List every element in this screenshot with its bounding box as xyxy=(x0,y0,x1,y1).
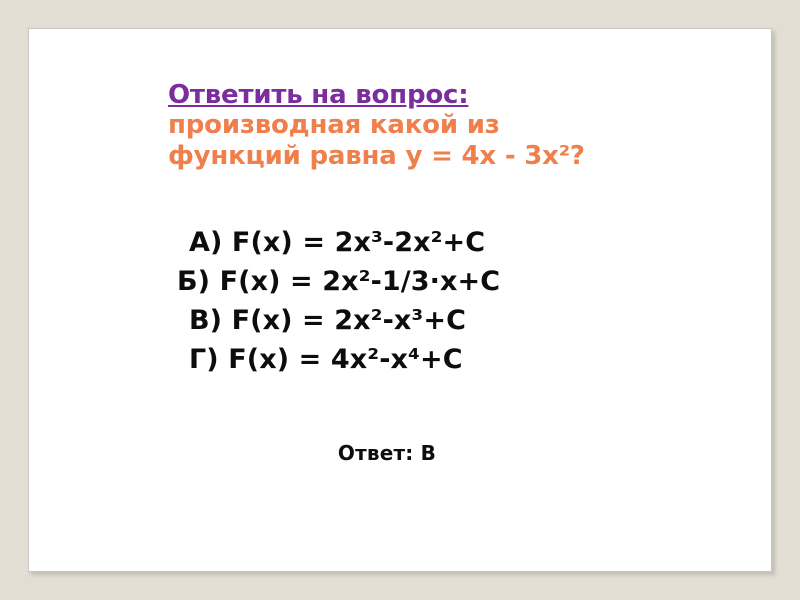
question-line-1: производная какой из xyxy=(168,110,688,141)
question-heading: Ответить на вопрос: xyxy=(168,81,688,110)
options-block: А) F(x) = 2x³-2x²+C Б) F(x) = 2x²-1/3·x+… xyxy=(177,224,737,380)
question-block: Ответить на вопрос: производная какой из… xyxy=(168,81,688,171)
option-a[interactable]: А) F(x) = 2x³-2x²+C xyxy=(177,224,737,263)
option-g[interactable]: Г) F(x) = 4x²-x⁴+C xyxy=(177,341,737,380)
answer-label: Ответ: В xyxy=(177,441,597,465)
question-line-2: функций равна y = 4x - 3x²? xyxy=(168,141,688,172)
option-v[interactable]: В) F(x) = 2x²-x³+C xyxy=(177,302,737,341)
option-b[interactable]: Б) F(x) = 2x²-1/3·x+C xyxy=(177,263,737,302)
slide-canvas: Ответить на вопрос: производная какой из… xyxy=(28,28,772,572)
